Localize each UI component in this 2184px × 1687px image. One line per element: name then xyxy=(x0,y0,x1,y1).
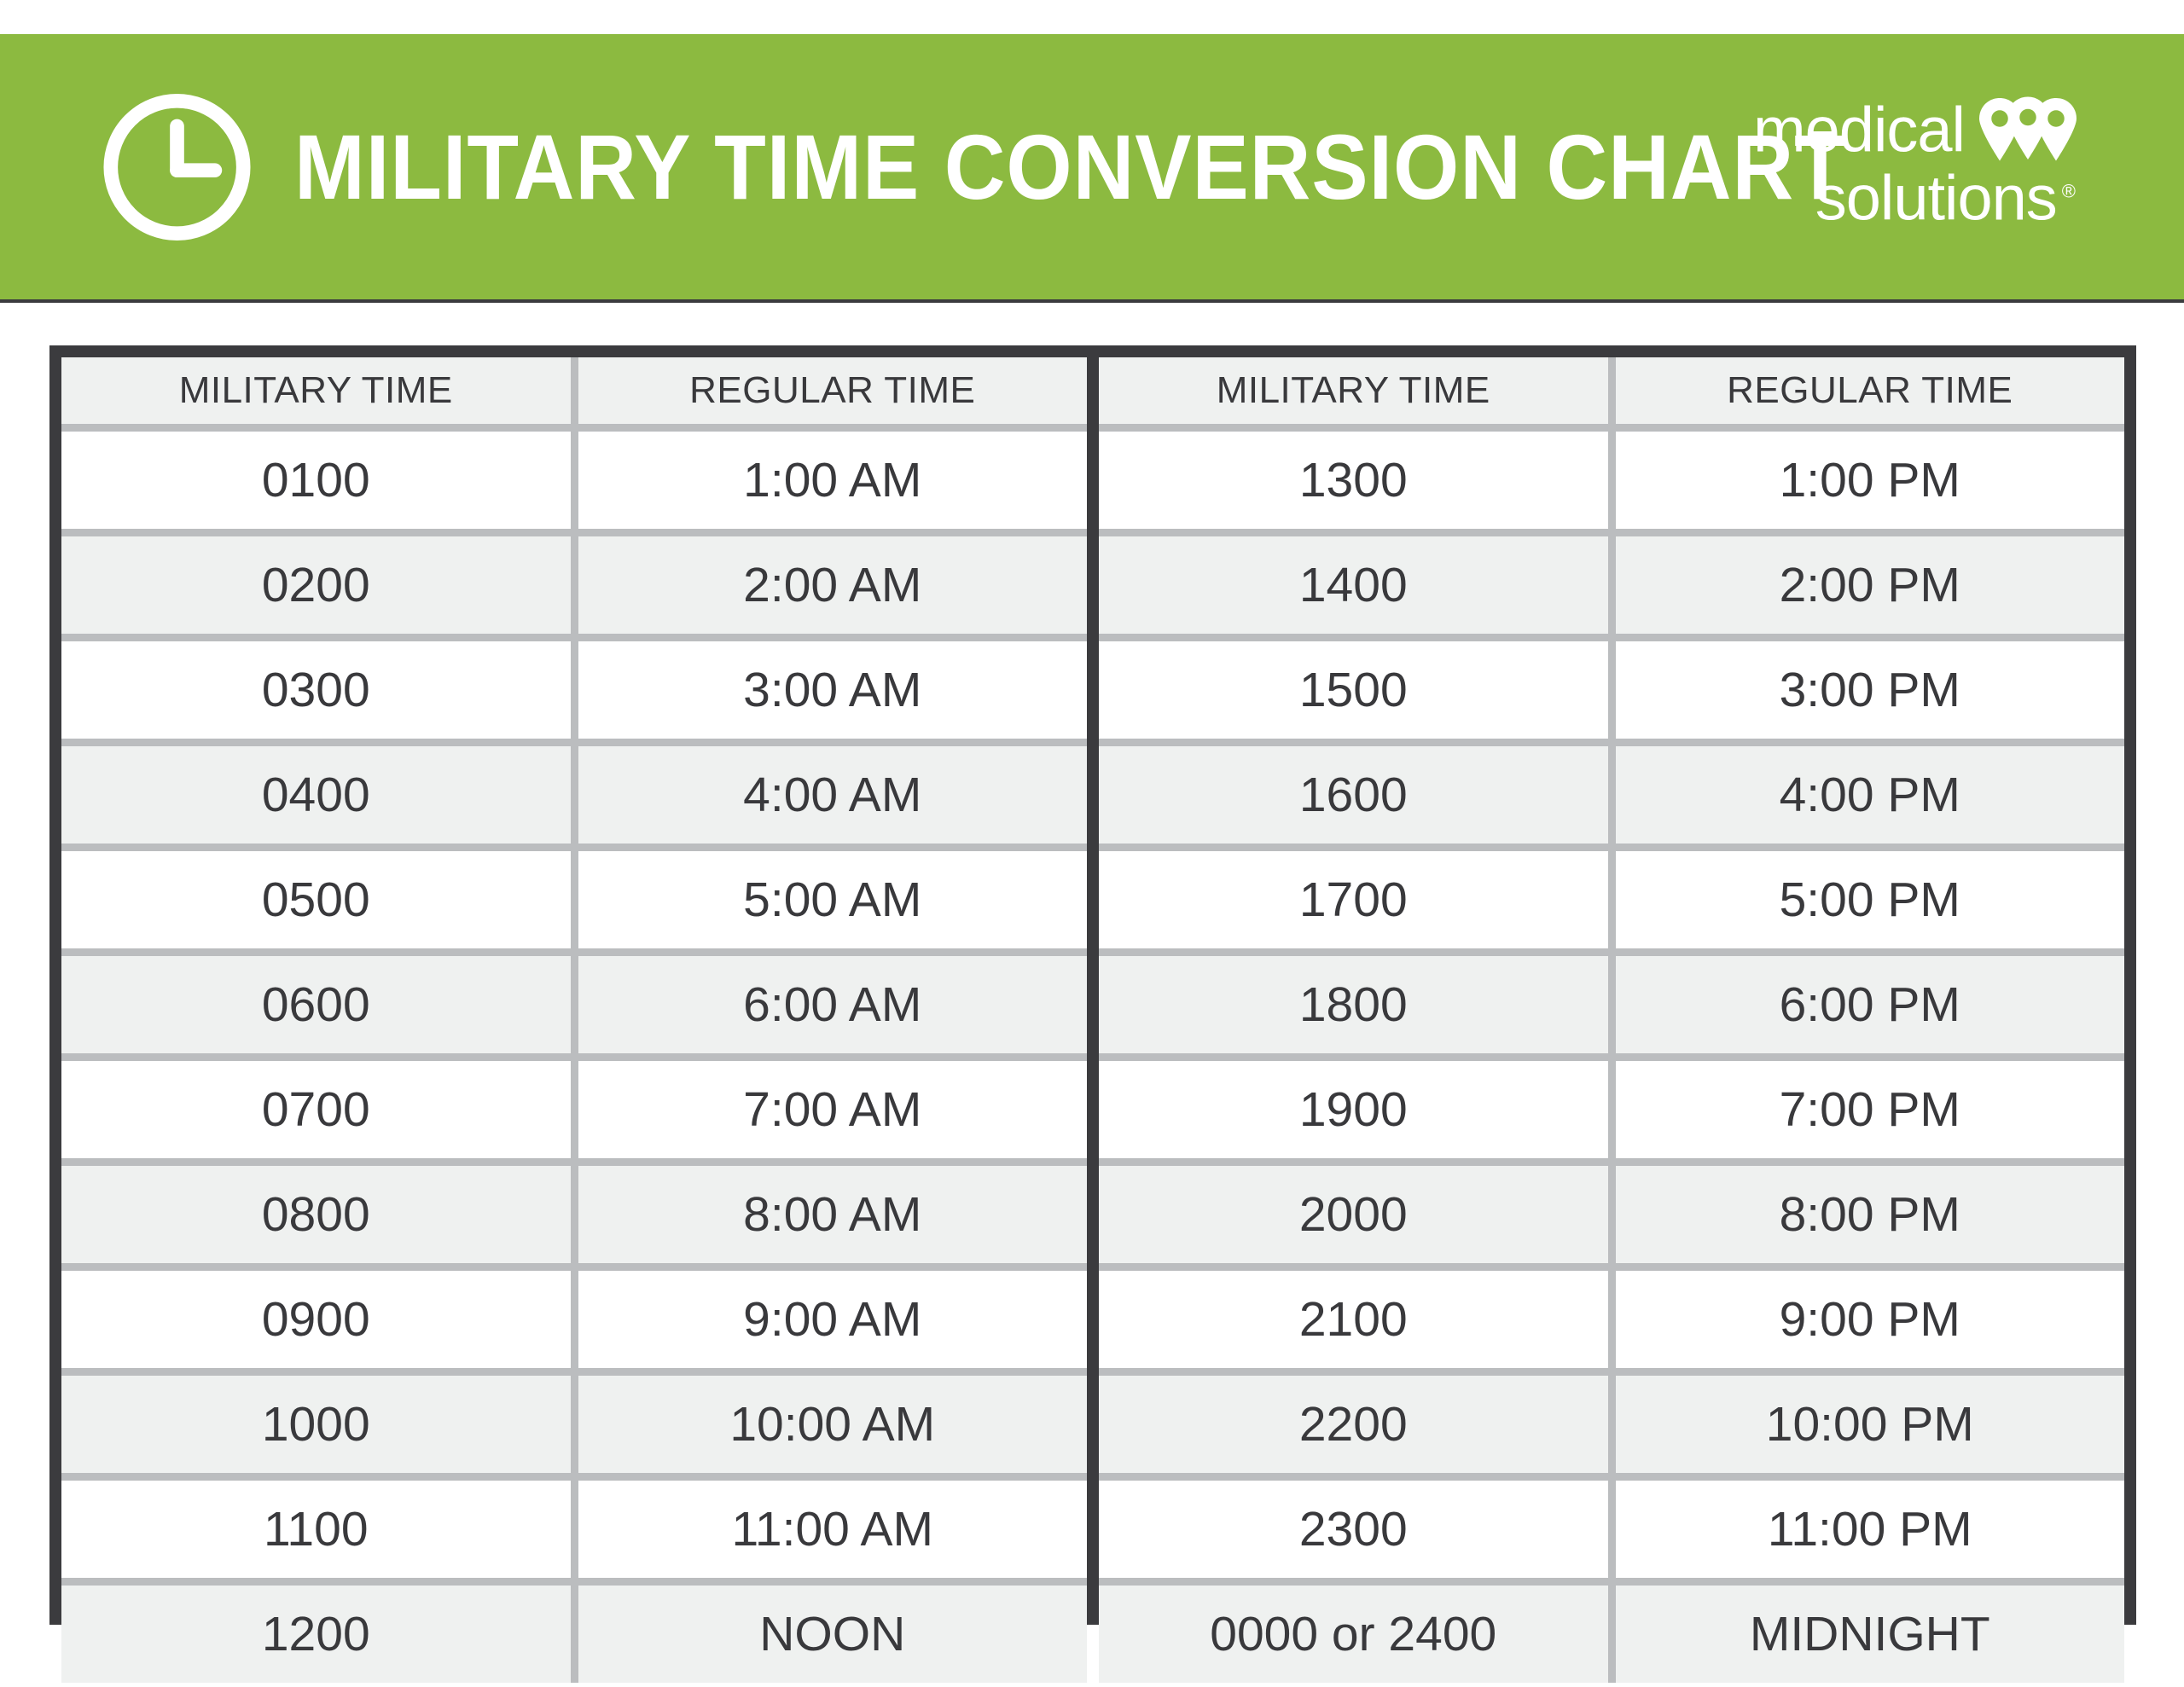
cell-military-time: 0300 xyxy=(61,641,571,739)
brand-logo: medical solutions ® xyxy=(1753,88,2094,246)
cell-regular-time: 5:00 AM xyxy=(578,851,1088,948)
brand-logo-line-2: solutions ® xyxy=(1753,166,2094,229)
cell-military-time: 1900 xyxy=(1099,1061,1608,1158)
cell-regular-time: 9:00 PM xyxy=(1616,1271,2125,1368)
page-title: MILITARY TIME CONVERSION CHART xyxy=(294,121,1847,213)
cell-military-time: 0900 xyxy=(61,1271,571,1368)
cell-regular-time: 2:00 AM xyxy=(578,536,1088,634)
cell-military-time: 1200 xyxy=(61,1586,571,1683)
cell-regular-time: 8:00 AM xyxy=(578,1166,1088,1263)
brand-logo-line-1: medical xyxy=(1753,96,2094,163)
cell-regular-time: 10:00 AM xyxy=(578,1376,1088,1473)
table-row: 08008:00 AM xyxy=(61,1166,1087,1263)
page-header-band: MILITARY TIME CONVERSION CHART medical xyxy=(0,34,2184,303)
clock-icon xyxy=(98,88,256,246)
cell-military-time: 2300 xyxy=(1099,1481,1608,1578)
table-row: 21009:00 PM xyxy=(1099,1271,2124,1368)
brand-word-solutions: solutions xyxy=(1815,166,2057,229)
cell-military-time: 0600 xyxy=(61,956,571,1053)
cell-regular-time: 8:00 PM xyxy=(1616,1166,2125,1263)
conversion-table-left-half: MILITARY TIMEREGULAR TIME01001:00 AM0200… xyxy=(61,357,1087,1613)
cell-regular-time: 7:00 PM xyxy=(1616,1061,2125,1158)
table-row: 19007:00 PM xyxy=(1099,1061,2124,1158)
table-center-divider xyxy=(1087,357,1099,1613)
table-row: 06006:00 AM xyxy=(61,956,1087,1053)
cell-military-time: 1400 xyxy=(1099,536,1608,634)
table-row: 20008:00 PM xyxy=(1099,1166,2124,1263)
cell-military-time: 1500 xyxy=(1099,641,1608,739)
table-row: 05005:00 AM xyxy=(61,851,1087,948)
cell-regular-time: 4:00 AM xyxy=(578,746,1088,843)
table-row: 220010:00 PM xyxy=(1099,1376,2124,1473)
cell-regular-time: 7:00 AM xyxy=(578,1061,1088,1158)
cell-regular-time: 3:00 AM xyxy=(578,641,1088,739)
table-row: 04004:00 AM xyxy=(61,746,1087,843)
cell-regular-time: 9:00 AM xyxy=(578,1271,1088,1368)
cell-regular-time: 11:00 PM xyxy=(1616,1481,2125,1578)
conversion-table: MILITARY TIMEREGULAR TIME01001:00 AM0200… xyxy=(49,345,2136,1625)
table-row: 230011:00 PM xyxy=(1099,1481,2124,1578)
cell-military-time: 1000 xyxy=(61,1376,571,1473)
table-row: 01001:00 AM xyxy=(61,432,1087,529)
table-row: 110011:00 AM xyxy=(61,1481,1087,1578)
cell-military-time: 0100 xyxy=(61,432,571,529)
cell-regular-time: 1:00 PM xyxy=(1616,432,2125,529)
cell-regular-time: NOON xyxy=(578,1586,1088,1683)
conversion-table-right-half: MILITARY TIMEREGULAR TIME13001:00 PM1400… xyxy=(1099,357,2124,1613)
column-header-regular-time: REGULAR TIME xyxy=(578,357,1088,424)
table-row: 100010:00 AM xyxy=(61,1376,1087,1473)
table-row: 14002:00 PM xyxy=(1099,536,2124,634)
table-row: 09009:00 AM xyxy=(61,1271,1087,1368)
cell-military-time: 0200 xyxy=(61,536,571,634)
cell-military-time: 0500 xyxy=(61,851,571,948)
table-row: 16004:00 PM xyxy=(1099,746,2124,843)
cell-military-time: 2200 xyxy=(1099,1376,1608,1473)
cell-military-time: 0700 xyxy=(61,1061,571,1158)
cell-military-time: 0800 xyxy=(61,1166,571,1263)
table-row: 07007:00 AM xyxy=(61,1061,1087,1158)
table-row: 0000 or 2400MIDNIGHT xyxy=(1099,1586,2124,1683)
table-row: 13001:00 PM xyxy=(1099,432,2124,529)
column-header-regular-time: REGULAR TIME xyxy=(1616,357,2125,424)
cell-military-time: 1300 xyxy=(1099,432,1608,529)
table-row: 17005:00 PM xyxy=(1099,851,2124,948)
cell-regular-time: 11:00 AM xyxy=(578,1481,1088,1578)
cell-military-time: 0400 xyxy=(61,746,571,843)
table-header-row: MILITARY TIMEREGULAR TIME xyxy=(61,357,1087,424)
cell-regular-time: 10:00 PM xyxy=(1616,1376,2125,1473)
column-header-military-time: MILITARY TIME xyxy=(61,357,571,424)
map-pins-icon xyxy=(1977,96,2079,163)
cell-military-time: 0000 or 2400 xyxy=(1099,1586,1608,1683)
cell-regular-time: 6:00 PM xyxy=(1616,956,2125,1053)
cell-regular-time: 2:00 PM xyxy=(1616,536,2125,634)
cell-regular-time: MIDNIGHT xyxy=(1616,1586,2125,1683)
column-header-military-time: MILITARY TIME xyxy=(1099,357,1608,424)
cell-regular-time: 6:00 AM xyxy=(578,956,1088,1053)
cell-regular-time: 1:00 AM xyxy=(578,432,1088,529)
table-row: 02002:00 AM xyxy=(61,536,1087,634)
table-row: 1200NOON xyxy=(61,1586,1087,1683)
cell-military-time: 2000 xyxy=(1099,1166,1608,1263)
table-row: 03003:00 AM xyxy=(61,641,1087,739)
cell-military-time: 1100 xyxy=(61,1481,571,1578)
cell-military-time: 2100 xyxy=(1099,1271,1608,1368)
cell-military-time: 1800 xyxy=(1099,956,1608,1053)
table-header-row: MILITARY TIMEREGULAR TIME xyxy=(1099,357,2124,424)
cell-regular-time: 4:00 PM xyxy=(1616,746,2125,843)
cell-military-time: 1700 xyxy=(1099,851,1608,948)
cell-military-time: 1600 xyxy=(1099,746,1608,843)
cell-regular-time: 3:00 PM xyxy=(1616,641,2125,739)
table-row: 15003:00 PM xyxy=(1099,641,2124,739)
cell-regular-time: 5:00 PM xyxy=(1616,851,2125,948)
registered-trademark-mark: ® xyxy=(2062,182,2076,200)
brand-word-medical: medical xyxy=(1753,98,1965,161)
table-row: 18006:00 PM xyxy=(1099,956,2124,1053)
